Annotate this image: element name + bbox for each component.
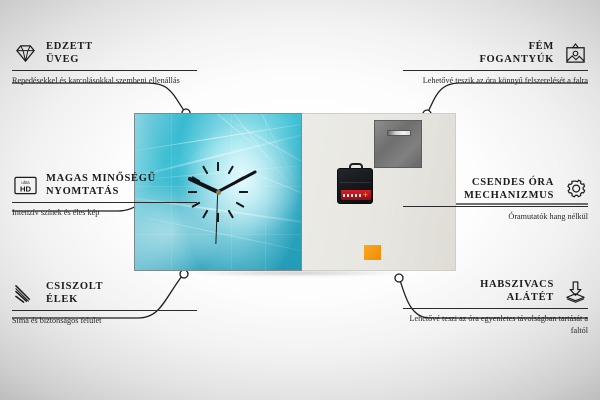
callout-description: Sima és biztonságos felület	[12, 315, 197, 326]
callout-metal-handles: FÉM FOGANTYÚK Lehetővé teszik az óra kön…	[403, 40, 588, 87]
callout-silent-mechanism: CSENDES ÓRA MECHANIZMUS Óramutatók hang …	[403, 176, 588, 223]
callout-title: CSENDES ÓRA MECHANIZMUS	[464, 176, 554, 202]
metal-hanger-plate	[374, 120, 422, 168]
callout-description: Óramutatók hang nélkül	[403, 211, 588, 222]
diamond-icon	[12, 41, 38, 65]
callout-divider	[403, 308, 588, 309]
callout-divider	[403, 70, 588, 71]
callout-title: MAGAS MINŐSÉGŰ NYOMTATÁS	[46, 172, 156, 198]
callout-description: Lehetővé teszi az óra egyenletes távolsá…	[403, 313, 588, 336]
hanger-slot	[387, 130, 411, 136]
svg-text:HD: HD	[19, 184, 31, 193]
callout-divider	[12, 202, 197, 203]
foam-spacer-pad	[364, 245, 381, 260]
mechanism-hanger-loop	[349, 163, 363, 171]
leader-tempered-glass	[12, 83, 185, 112]
battery-label	[343, 194, 361, 197]
gear-icon	[562, 177, 588, 201]
callout-divider	[12, 310, 197, 311]
battery-plus-terminal: +	[362, 191, 369, 199]
callout-description: Lehetővé teszik az óra könnyű felszerelé…	[403, 75, 588, 86]
callout-title: HABSZIVACS ALÁTÉT	[480, 278, 554, 304]
polished-edges-icon	[12, 281, 38, 305]
callout-title: EDZETT ÜVEG	[46, 40, 93, 66]
mechanism-seam	[340, 182, 370, 183]
callout-divider	[12, 70, 197, 71]
ultra-hd-icon: ultra HD	[12, 173, 38, 197]
callout-description: Repedésekkel és karcolásokkal szembeni e…	[12, 75, 197, 86]
leader-metal-handles	[428, 83, 588, 112]
callout-foam-spacer: HABSZIVACS ALÁTÉT Lehetővé teszi az óra …	[403, 278, 588, 336]
callout-tempered-glass: EDZETT ÜVEG Repedésekkel és karcolásokka…	[12, 40, 197, 87]
callout-title: FÉM FOGANTYÚK	[479, 40, 554, 66]
callout-description: Intenzív színek és éles kép	[12, 207, 197, 218]
foam-pad-icon	[562, 279, 588, 303]
hand-center-cap	[216, 190, 221, 195]
picture-hanger-icon	[562, 41, 588, 65]
battery: +	[341, 190, 371, 200]
callout-high-quality-print: ultra HD MAGAS MINŐSÉGŰ NYOMTATÁS Intenz…	[12, 172, 197, 219]
clock-mechanism: +	[337, 168, 373, 204]
infographic-canvas: + EDZETT ÜVEG Repedésekkel és karcolások…	[0, 0, 600, 400]
callout-polished-edges: CSISZOLT ÉLEK Sima és biztonságos felüle…	[12, 280, 197, 327]
callout-divider	[403, 206, 588, 207]
callout-title: CSISZOLT ÉLEK	[46, 280, 103, 306]
